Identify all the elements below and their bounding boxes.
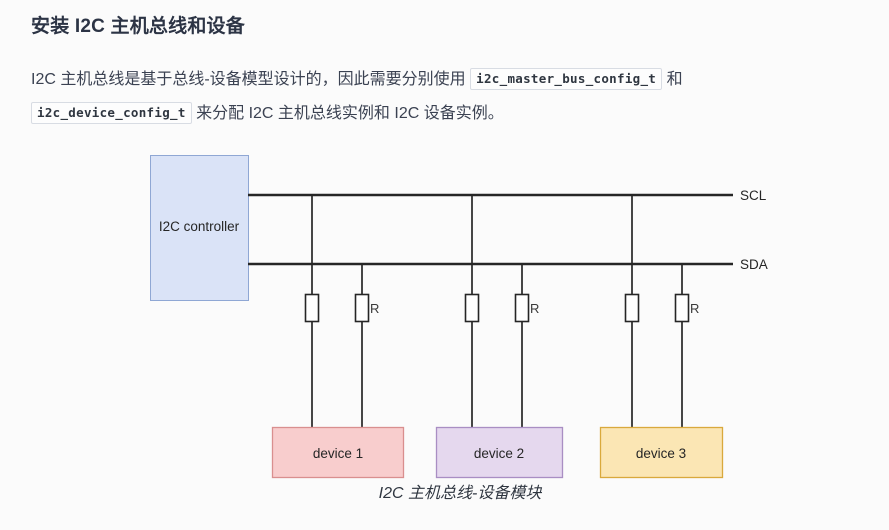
pullup-resistor-sda-2 <box>516 295 529 322</box>
device-label-2: device 2 <box>474 446 524 461</box>
pullup-resistor-scl-2 <box>466 295 479 322</box>
paragraph-text-2: 和 <box>667 71 683 88</box>
scl-label: SCL <box>740 188 767 203</box>
device-label-1: device 1 <box>313 446 363 461</box>
pullup-resistor-scl-3 <box>626 295 639 322</box>
i2c-bus-diagram: I2C controller SCL SDA R device 1 <box>0 138 889 530</box>
controller-label: I2C controller <box>159 219 240 234</box>
resistor-label-3: R <box>690 301 699 316</box>
paragraph-text-1: I2C 主机总线是基于总线-设备模型设计的，因此需要分别使用 <box>31 71 466 88</box>
code-i2c-master-bus-config-t: i2c_master_bus_config_t <box>470 68 662 90</box>
page-title: 安装 I2C 主机总线和设备 <box>31 11 245 38</box>
paragraph-text-3: 来分配 I2C 主机总线实例和 I2C 设备实例。 <box>196 105 504 122</box>
resistor-label-1: R <box>370 301 379 316</box>
page-root: 安装 I2C 主机总线和设备 I2C 主机总线是基于总线-设备模型设计的，因此需… <box>0 0 889 530</box>
intro-paragraph: I2C 主机总线是基于总线-设备模型设计的，因此需要分别使用 i2c_maste… <box>31 62 831 130</box>
pullup-resistor-sda-1 <box>356 295 369 322</box>
resistor-label-2: R <box>530 301 539 316</box>
diagram-caption: I2C 主机总线-设备模块 <box>379 484 543 502</box>
pullup-resistor-sda-3 <box>676 295 689 322</box>
pullup-resistor-scl-1 <box>306 295 319 322</box>
sda-label: SDA <box>740 257 768 272</box>
device-label-3: device 3 <box>636 446 686 461</box>
code-i2c-device-config-t: i2c_device_config_t <box>31 102 192 124</box>
